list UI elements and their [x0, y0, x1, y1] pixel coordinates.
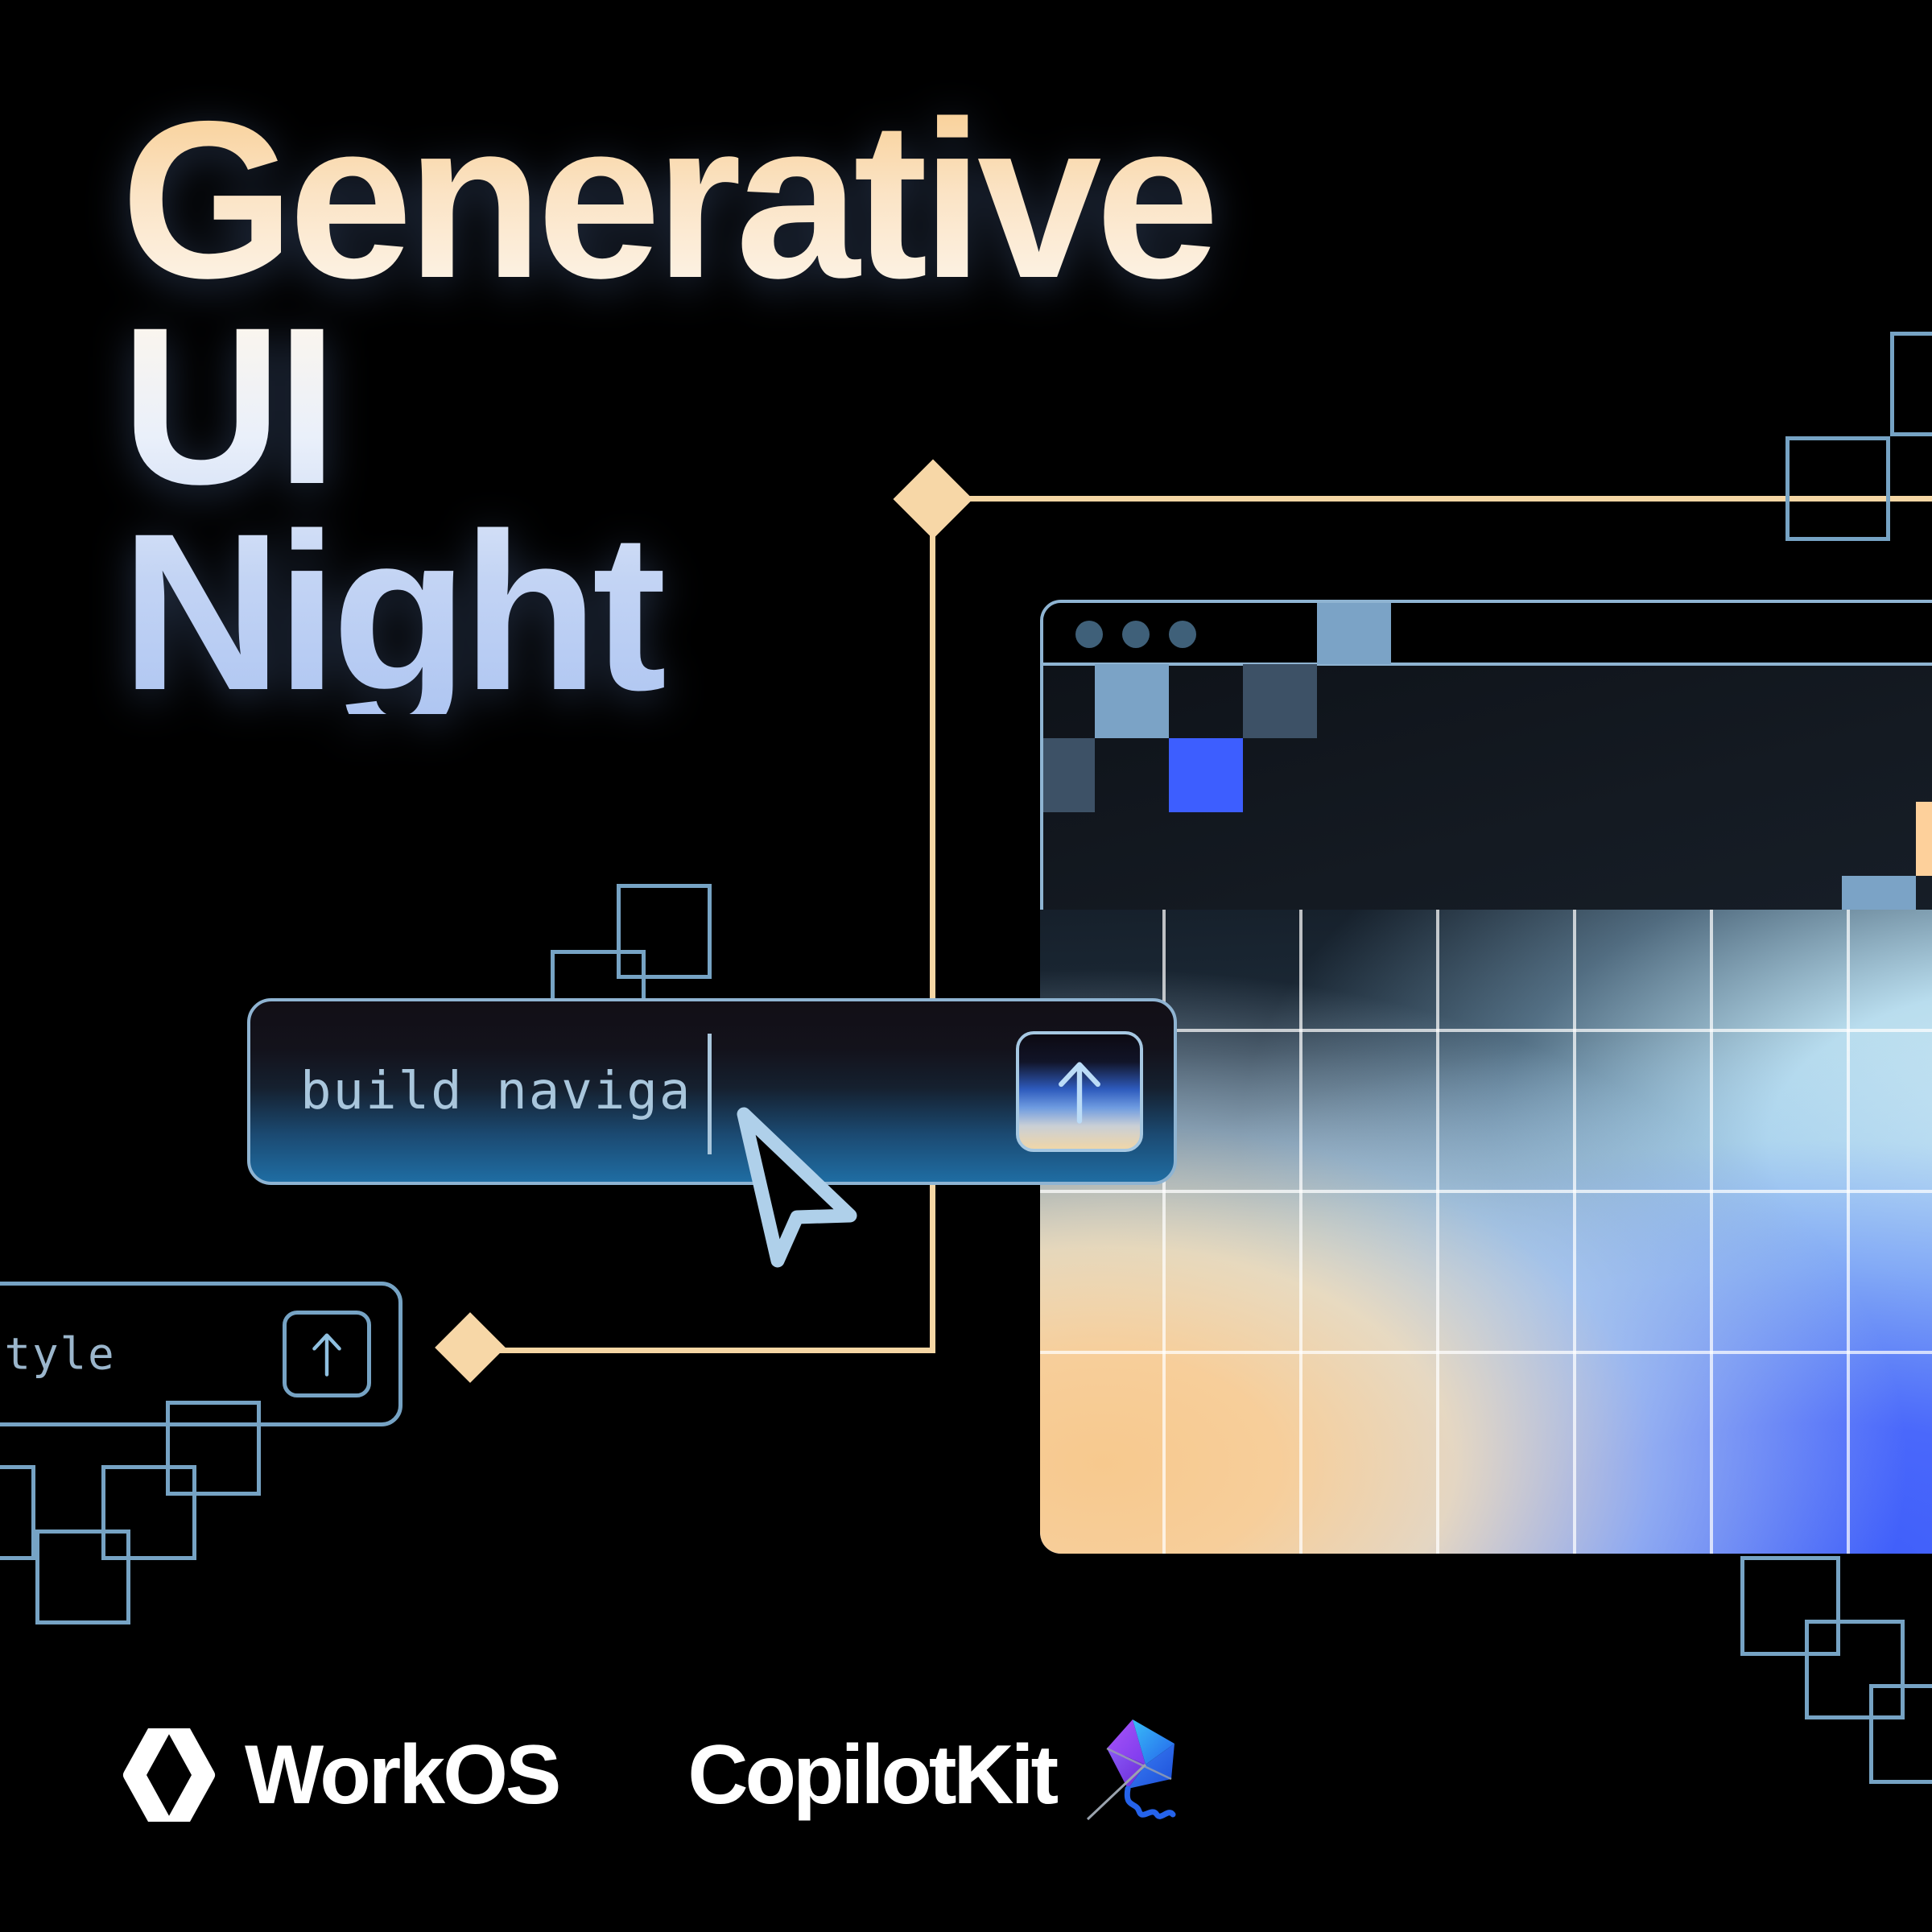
- decor-square-left-1: [0, 1465, 35, 1560]
- diamond-node-bottom: [435, 1312, 506, 1383]
- grid-line-v: [1710, 910, 1713, 1554]
- poster-canvas: Generative UI Night: [0, 0, 1932, 1932]
- workos-hexagon-logo: [121, 1725, 217, 1825]
- mosaic-tile-3: [1916, 802, 1932, 876]
- minimize-dot-icon[interactable]: [1122, 621, 1150, 648]
- browser-title-bar: [1043, 603, 1932, 666]
- mouse-cursor-icon: [708, 1095, 869, 1280]
- decor-square-bottom-right-3: [1869, 1684, 1932, 1784]
- sponsor-workos[interactable]: WorkOS: [121, 1725, 559, 1825]
- prompt-input-value: build naviga: [300, 1062, 691, 1121]
- maximize-dot-icon[interactable]: [1169, 621, 1196, 648]
- workos-wordmark: WorkOS: [245, 1733, 559, 1817]
- connector-line-horizontal-top: [934, 496, 1932, 502]
- sponsor-logos: WorkOS CopilotKit: [121, 1715, 1179, 1835]
- grid-line-h: [1040, 1351, 1932, 1354]
- grid-line-v: [1436, 910, 1439, 1554]
- copilotkit-wordmark: CopilotKit: [687, 1733, 1055, 1817]
- decor-square-top-right-1: [1785, 436, 1890, 541]
- generated-ui-grid: [1040, 910, 1932, 1554]
- grid-line-v: [1299, 910, 1302, 1554]
- close-dot-icon[interactable]: [1075, 621, 1103, 648]
- send-button[interactable]: [1016, 1031, 1143, 1152]
- decor-square-above-prompt-2: [617, 884, 712, 979]
- send-button-secondary[interactable]: [283, 1311, 371, 1397]
- mosaic-tile: [1095, 664, 1169, 738]
- grid-line-h: [1040, 1190, 1932, 1193]
- mosaic-tile: [1243, 664, 1317, 738]
- arrow-up-icon: [308, 1330, 345, 1378]
- grid-line-v: [1847, 910, 1850, 1554]
- arrow-up-icon: [1055, 1059, 1104, 1125]
- mosaic-tile: [1317, 600, 1391, 664]
- copilotkit-kite-logo: [1083, 1715, 1179, 1835]
- grid-gradient-fill: [1040, 910, 1932, 1554]
- sponsor-copilotkit[interactable]: CopilotKit: [687, 1715, 1179, 1835]
- mosaic-tile: [1040, 738, 1095, 812]
- mosaic-tile: [1169, 738, 1243, 812]
- prompt-input-value-secondary: ton style: [0, 1329, 116, 1380]
- decor-square-top-right-2: [1890, 332, 1932, 436]
- grid-line-v: [1573, 910, 1576, 1554]
- prompt-input-box-secondary[interactable]: ton style: [0, 1282, 402, 1426]
- connector-line-vertical: [930, 496, 935, 1353]
- connector-line-horizontal-bottom: [487, 1348, 935, 1353]
